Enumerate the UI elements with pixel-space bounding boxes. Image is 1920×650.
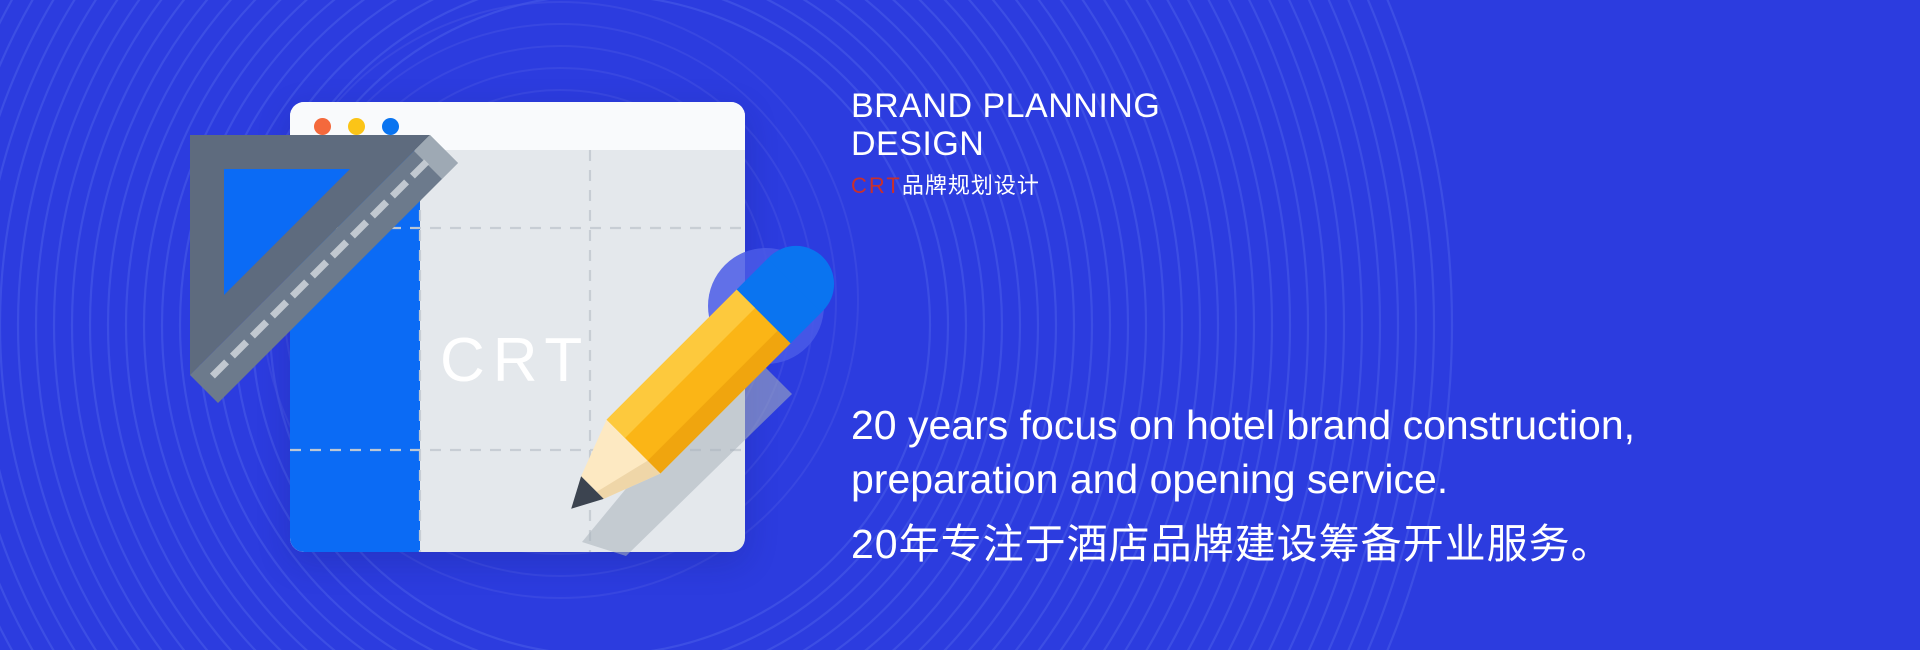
brand-text-block: BRAND PLANNING DESIGN CRT品牌规划设计 [851, 87, 1451, 200]
hero-banner: CRT [0, 0, 1920, 650]
illustration: CRT [230, 70, 850, 590]
brand-title-en: BRAND PLANNING DESIGN [851, 87, 1451, 164]
triangle-ruler-icon [180, 125, 510, 425]
headline-en: 20 years focus on hotel brand constructi… [851, 398, 1791, 506]
brand-cn-label: 品牌规划设计 [902, 173, 1040, 198]
headline-block: 20 years focus on hotel brand constructi… [851, 398, 1791, 572]
brand-title-cn: CRT品牌规划设计 [851, 172, 1451, 201]
pencil-icon [530, 220, 850, 560]
headline-cn: 20年专注于酒店品牌建设筹备开业服务。 [851, 518, 1791, 571]
brand-cn-prefix: CRT [851, 173, 902, 198]
